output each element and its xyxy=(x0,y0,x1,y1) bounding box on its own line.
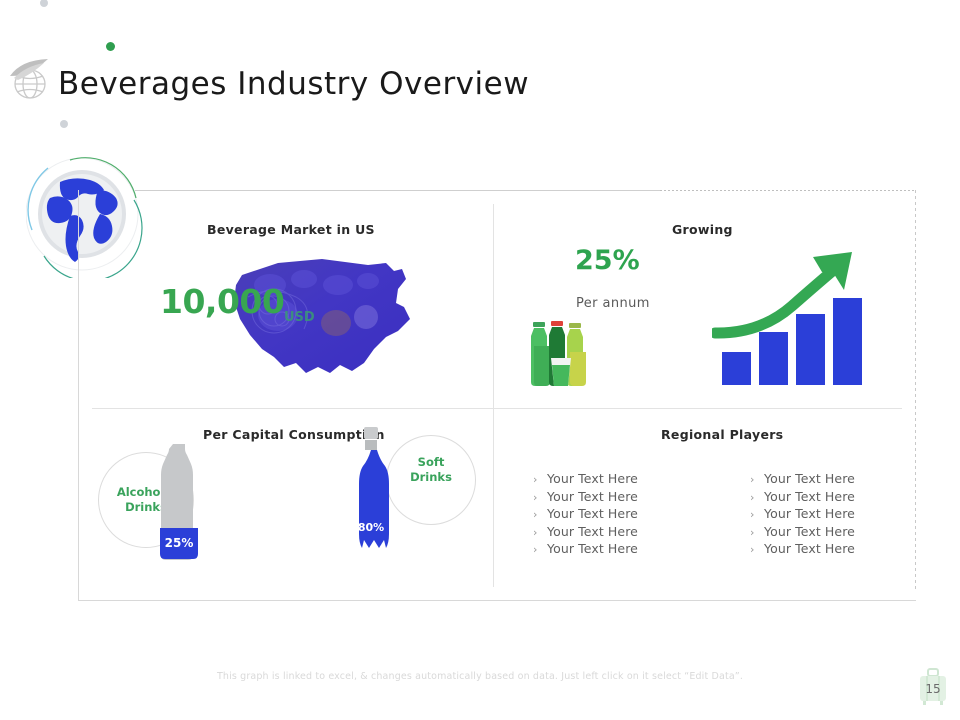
page-number: 15 xyxy=(917,682,949,696)
growing-subtitle: Per annum xyxy=(576,296,650,311)
beer-bottle-icon: 25% xyxy=(160,442,198,562)
list-item-label: Your Text Here xyxy=(764,524,855,539)
soft-label-line2: Drinks xyxy=(410,470,452,484)
content-frame: Beverage Market in US xyxy=(78,190,916,601)
list-item[interactable]: ›Your Text Here xyxy=(533,541,638,559)
list-item-label: Your Text Here xyxy=(547,506,638,521)
regional-bullets-left: ›Your Text Here›Your Text Here›Your Text… xyxy=(533,471,638,559)
regional-bullets-right: ›Your Text Here›Your Text Here›Your Text… xyxy=(750,471,855,559)
list-item[interactable]: ›Your Text Here xyxy=(750,471,855,489)
list-item-label: Your Text Here xyxy=(764,541,855,556)
quadrant-divider-horizontal xyxy=(92,408,902,409)
list-item[interactable]: ›Your Text Here xyxy=(533,489,638,507)
footer-note: This graph is linked to excel, & changes… xyxy=(0,671,960,682)
frame-border-left xyxy=(78,190,79,601)
list-item-label: Your Text Here xyxy=(547,489,638,504)
list-item[interactable]: ›Your Text Here xyxy=(533,471,638,489)
list-item[interactable]: ›Your Text Here xyxy=(750,489,855,507)
list-item-label: Your Text Here xyxy=(764,489,855,504)
regional-section-title: Regional Players xyxy=(661,427,783,442)
frame-border-right-dotted xyxy=(915,190,916,590)
list-item[interactable]: ›Your Text Here xyxy=(750,524,855,542)
list-item-label: Your Text Here xyxy=(764,471,855,486)
globe-airplane-icon xyxy=(8,58,56,102)
globe-connector-dot-green xyxy=(106,42,115,51)
growing-percent-value: 25% xyxy=(575,245,640,276)
chevron-right-icon: › xyxy=(750,491,764,504)
growth-bar-chart-icon xyxy=(712,248,867,390)
list-item[interactable]: ›Your Text Here xyxy=(750,506,855,524)
list-item-label: Your Text Here xyxy=(547,524,638,539)
soft-label-line1: Soft xyxy=(418,455,445,469)
soda-bottles-icon xyxy=(523,318,598,390)
frame-border-top-solid xyxy=(135,190,660,191)
soft-drinks-label: Soft Drinks xyxy=(386,455,476,485)
list-item[interactable]: ›Your Text Here xyxy=(533,506,638,524)
list-item-label: Your Text Here xyxy=(547,471,638,486)
slide-root: Beverages Industry Overview xyxy=(0,0,960,720)
slide-header: Beverages Industry Overview xyxy=(0,28,960,92)
market-section-title: Beverage Market in US xyxy=(207,222,375,237)
chevron-right-icon: › xyxy=(750,526,764,539)
quadrant-divider-vertical xyxy=(493,204,494,587)
list-item-label: Your Text Here xyxy=(764,506,855,521)
globe-decor-dot-top xyxy=(40,0,48,7)
page-title: Beverages Industry Overview xyxy=(58,66,529,102)
globe-decor-dot-bottom xyxy=(60,120,68,128)
chevron-right-icon: › xyxy=(750,543,764,556)
alcoholic-percent-value: 25% xyxy=(165,536,194,550)
chevron-right-icon: › xyxy=(533,491,547,504)
growing-section-title: Growing xyxy=(672,222,733,237)
list-item-label: Your Text Here xyxy=(547,541,638,556)
soft-percent-value: 80% xyxy=(358,521,384,534)
list-item[interactable]: ›Your Text Here xyxy=(750,541,855,559)
market-value: 10,000 xyxy=(160,282,284,321)
chevron-right-icon: › xyxy=(750,473,764,486)
chevron-right-icon: › xyxy=(533,473,547,486)
chevron-right-icon: › xyxy=(533,543,547,556)
frame-border-top-dotted xyxy=(660,190,916,191)
chevron-right-icon: › xyxy=(533,508,547,521)
list-item[interactable]: ›Your Text Here xyxy=(533,524,638,542)
frame-border-bottom xyxy=(78,600,916,601)
market-unit-label: USD xyxy=(284,310,315,325)
chevron-right-icon: › xyxy=(750,508,764,521)
chevron-right-icon: › xyxy=(533,526,547,539)
soft-drink-bottle-icon: 80% xyxy=(350,425,392,565)
